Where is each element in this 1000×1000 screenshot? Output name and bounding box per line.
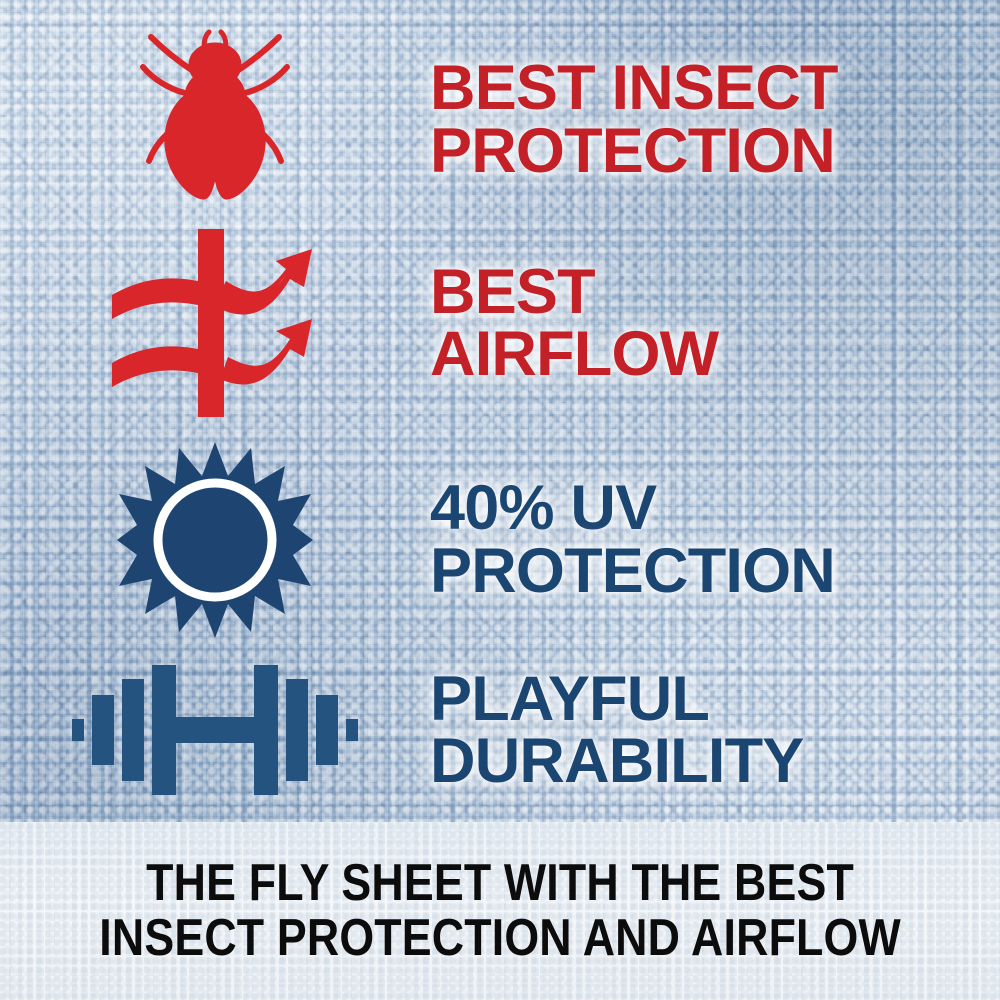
- caption-headline: THE FLY SHEET WITH THE BEST INSECT PROTE…: [99, 856, 901, 966]
- feature-text-cell: BEST AIRFLOW: [430, 261, 1000, 386]
- airflow-arrows-icon: [100, 223, 330, 423]
- feature-icon-cell: [0, 655, 430, 805]
- feature-title-uv-protection: 40% UV PROTECTION: [430, 477, 982, 602]
- feature-row-uv-protection: 40% UV PROTECTION: [0, 432, 1000, 647]
- feature-row-insect-protection: BEST INSECT PROTECTION: [0, 22, 1000, 217]
- feature-text-cell: BEST INSECT PROTECTION: [430, 57, 1000, 182]
- feature-title-durability: PLAYFUL DURABILITY: [430, 668, 982, 793]
- fly-icon: [135, 27, 295, 212]
- feature-text-cell: 40% UV PROTECTION: [430, 477, 1000, 602]
- feature-title-airflow: BEST AIRFLOW: [430, 261, 982, 386]
- caption-bar: THE FLY SHEET WITH THE BEST INSECT PROTE…: [0, 822, 1000, 1000]
- dumbbell-icon: [70, 655, 360, 805]
- feature-icon-cell: [0, 440, 430, 640]
- feature-list: BEST INSECT PROTECTION: [0, 0, 1000, 822]
- feature-row-durability: PLAYFUL DURABILITY: [0, 650, 1000, 810]
- sun-uv-icon: [115, 440, 315, 640]
- feature-icon-cell: [0, 27, 430, 212]
- feature-text-cell: PLAYFUL DURABILITY: [430, 668, 1000, 793]
- product-feature-poster: BEST INSECT PROTECTION: [0, 0, 1000, 1000]
- feature-row-airflow: BEST AIRFLOW: [0, 218, 1000, 428]
- feature-title-insect-protection: BEST INSECT PROTECTION: [430, 57, 982, 182]
- feature-icon-cell: [0, 223, 430, 423]
